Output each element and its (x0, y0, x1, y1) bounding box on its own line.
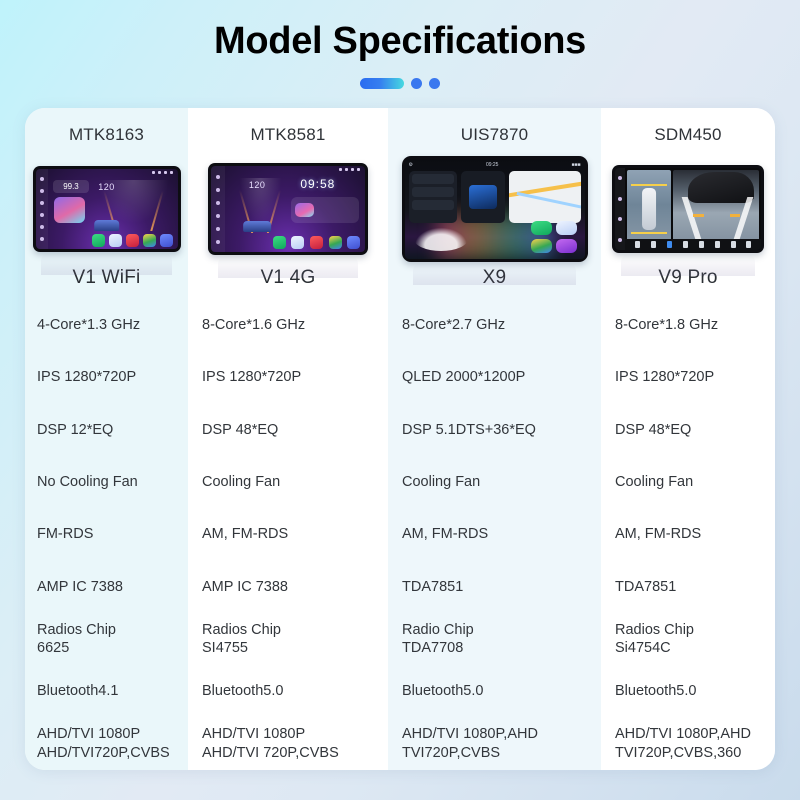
spec-display: IPS 1280*720P (188, 351, 388, 403)
spec-radio-chip: Radios Chip SI4755 (188, 613, 388, 665)
app-icon-auto (556, 221, 577, 235)
camera-icon-rear (667, 241, 672, 248)
device-album-art (295, 203, 314, 217)
device-speed-label: 120 (98, 182, 115, 192)
carousel-indicator (0, 78, 800, 90)
device-car-graphic (688, 172, 754, 203)
device-speed-label: 120 (249, 180, 266, 190)
device-radio-frequency: 99.3 (53, 180, 90, 193)
spec-radio-band: AM, FM-RDS (388, 508, 601, 560)
spec-column-sdm450: SDM450 (601, 108, 775, 770)
app-icon-auto (109, 234, 122, 247)
app-icon-carplay (531, 221, 552, 235)
device-sidebar-icons (615, 168, 625, 250)
device-shortcut-carlink (412, 187, 454, 197)
device-sidebar-icons (36, 169, 49, 249)
spec-display: IPS 1280*720P (25, 351, 188, 403)
spec-cooling: No Cooling Fan (25, 456, 188, 508)
device-car-graphic (414, 227, 468, 251)
device-app-dock (273, 236, 361, 249)
app-icon-music (310, 236, 323, 249)
spec-display: IPS 1280*720P (601, 351, 775, 403)
indicator-dot-2[interactable] (411, 78, 422, 89)
device-camera-toolbar (625, 239, 761, 250)
spec-dsp: DSP 48*EQ (188, 404, 388, 456)
device-car-top-graphic (642, 188, 656, 230)
spec-amp-ic: TDA7851 (388, 561, 601, 613)
app-icon-music (126, 234, 139, 247)
spec-camera: AHD/TVI 1080P,AHD TVI720P,CVBS (388, 718, 601, 770)
device-music-card (461, 171, 506, 223)
spec-radio-chip: Radios Chip Si4754C (601, 613, 775, 665)
device-birdseye-view (627, 170, 670, 248)
device-image-v9-pro (601, 145, 775, 273)
device-status-bar (339, 168, 360, 171)
device-album-art (469, 185, 497, 209)
camera-icon-top (731, 241, 736, 248)
spec-bluetooth: Bluetooth5.0 (188, 665, 388, 717)
chipset-name: MTK8163 (25, 108, 188, 145)
device-shortcut-recorder (412, 200, 454, 210)
spec-cpu: 8-Core*1.8 GHz (601, 299, 775, 351)
spec-bluetooth: Bluetooth4.1 (25, 665, 188, 717)
app-icon-settings (160, 234, 173, 247)
app-icon-assistant (556, 239, 577, 253)
app-icon-carplay (273, 236, 286, 249)
app-icon-carplay (92, 234, 105, 247)
device-car-graphic (243, 221, 271, 232)
camera-icon-left (683, 241, 688, 248)
specifications-table: MTK8163 120 99.3 (25, 108, 775, 770)
spec-bluetooth: Bluetooth5.0 (601, 665, 775, 717)
device-map-card (509, 171, 580, 223)
app-icon-maps (329, 236, 342, 249)
device-status-bar: ⚙ 09:25 ■■■ (409, 161, 581, 169)
device-image-x9: ⚙ 09:25 ■■■ (388, 145, 601, 273)
spec-cpu: 4-Core*1.3 GHz (25, 299, 188, 351)
chipset-name: SDM450 (601, 108, 775, 145)
device-rear-camera-view (673, 170, 759, 248)
spec-cooling: Cooling Fan (388, 456, 601, 508)
spec-amp-ic: TDA7851 (601, 561, 775, 613)
device-status-bar (152, 171, 173, 174)
app-icon-maps (531, 239, 552, 253)
app-icon-maps (143, 234, 156, 247)
device-album-art (54, 197, 85, 223)
spec-column-mtk8163: MTK8163 120 99.3 (25, 108, 188, 770)
spec-amp-ic: AMP IC 7388 (188, 561, 388, 613)
spec-rows: 8-Core*2.7 GHz QLED 2000*1200P DSP 5.1DT… (388, 299, 601, 770)
spec-rows: 4-Core*1.3 GHz IPS 1280*720P DSP 12*EQ N… (25, 299, 188, 770)
spec-column-mtk8581: MTK8581 120 09:58 (188, 108, 388, 770)
spec-column-uis7870: UIS7870 ⚙ 09:25 ■■■ (388, 108, 601, 770)
camera-icon-front (651, 241, 656, 248)
device-shortcut-bluetooth (412, 174, 454, 184)
spec-display: QLED 2000*1200P (388, 351, 601, 403)
spec-camera: AHD/TVI 1080P AHD/TVI 720P,CVBS (188, 718, 388, 770)
app-icon-settings (347, 236, 360, 249)
spec-amp-ic: AMP IC 7388 (25, 561, 188, 613)
spec-camera: AHD/TVI 1080P AHD/TVI720P,CVBS (25, 718, 188, 770)
page-title: Model Specifications (0, 0, 800, 64)
spec-rows: 8-Core*1.6 GHz IPS 1280*720P DSP 48*EQ C… (188, 299, 388, 770)
app-icon-auto (291, 236, 304, 249)
spec-cpu: 8-Core*1.6 GHz (188, 299, 388, 351)
indicator-dot-3[interactable] (429, 78, 440, 89)
device-status-right: ■■■ (571, 162, 580, 168)
chipset-name: UIS7870 (388, 108, 601, 145)
spec-cooling: Cooling Fan (188, 456, 388, 508)
chipset-name: MTK8581 (188, 108, 388, 145)
device-image-v1-4g: 120 09:58 (188, 145, 388, 273)
camera-icon-3d (715, 241, 720, 248)
device-sidebar-icons (211, 166, 225, 252)
device-music-panel (291, 197, 359, 223)
camera-icon-record (635, 241, 640, 248)
spec-rows: 8-Core*1.8 GHz IPS 1280*720P DSP 48*EQ C… (601, 299, 775, 770)
device-home-cards (409, 171, 581, 223)
spec-radio-band: AM, FM-RDS (188, 508, 388, 560)
spec-radio-chip: Radios Chip 6625 (25, 613, 188, 665)
device-app-dock (92, 234, 173, 247)
indicator-pill-active[interactable] (360, 78, 404, 89)
device-car-graphic (94, 220, 120, 230)
spec-camera: AHD/TVI 1080P,AHD TVI720P,CVBS,360 (601, 718, 775, 770)
spec-radio-band: AM, FM-RDS (601, 508, 775, 560)
device-shortcut-list (409, 171, 457, 223)
spec-radio-band: FM-RDS (25, 508, 188, 560)
device-image-v1-wifi: 120 99.3 (25, 145, 188, 273)
camera-icon-settings (746, 241, 751, 248)
spec-radio-chip: Radio Chip TDA7708 (388, 613, 601, 665)
device-clock: 09:58 (291, 175, 359, 194)
spec-dsp: DSP 12*EQ (25, 404, 188, 456)
spec-dsp: DSP 48*EQ (601, 404, 775, 456)
camera-icon-right (699, 241, 704, 248)
device-status-time: 09:25 (486, 162, 499, 168)
spec-bluetooth: Bluetooth5.0 (388, 665, 601, 717)
spec-cpu: 8-Core*2.7 GHz (388, 299, 601, 351)
device-app-dock (531, 221, 578, 253)
spec-cooling: Cooling Fan (601, 456, 775, 508)
spec-dsp: DSP 5.1DTS+36*EQ (388, 404, 601, 456)
device-status-left: ⚙ (409, 162, 413, 168)
